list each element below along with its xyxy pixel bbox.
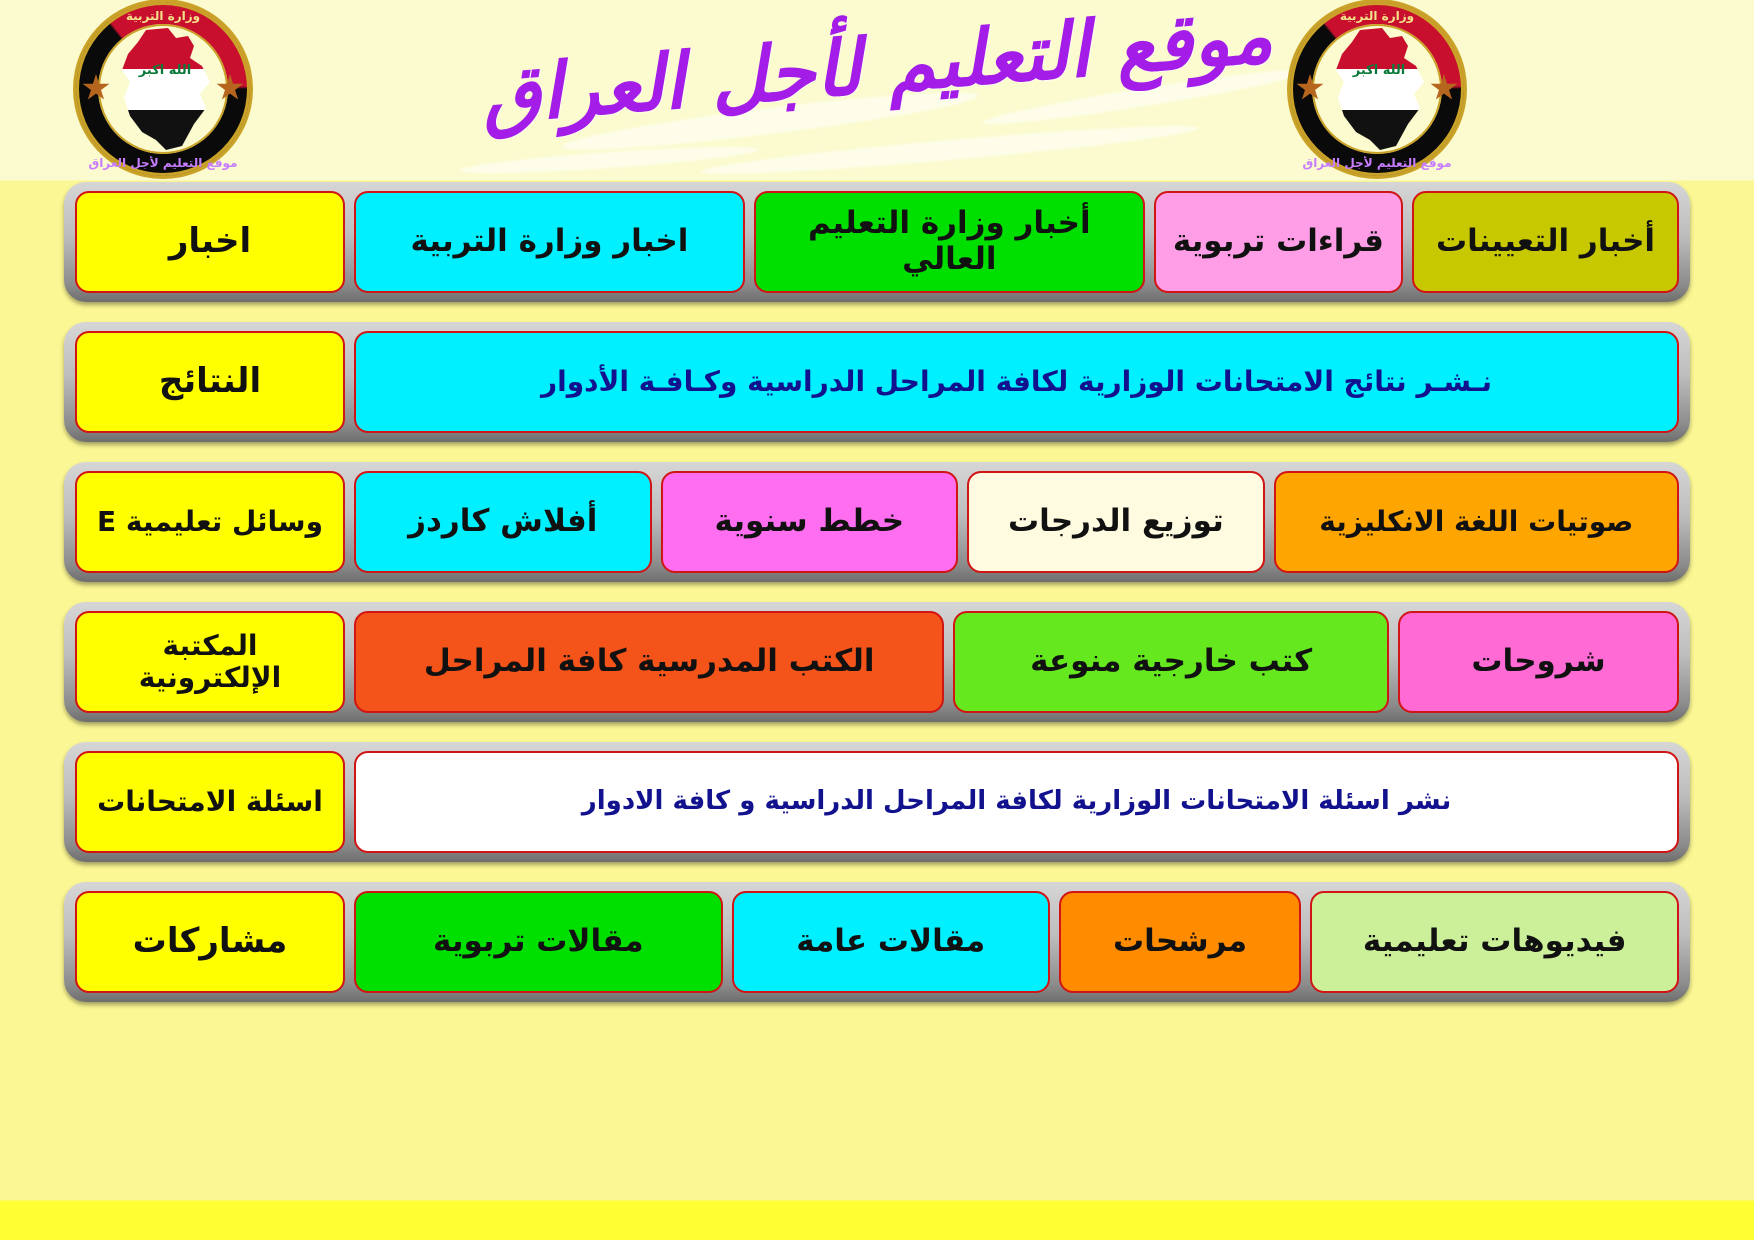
nav-button[interactable]: قراءات تربوية (1154, 191, 1403, 293)
nav-button[interactable]: أفلاش كاردز (354, 471, 652, 573)
nav-row-results: النتائجنـشـر نتائج الامتحانات الوزارية ل… (64, 322, 1690, 442)
nav-button[interactable]: مقالات تربوية (354, 891, 723, 993)
nav-button[interactable]: صوتيات اللغة الانكليزية (1274, 471, 1679, 573)
nav-button[interactable]: كتب خارجية منوعة (953, 611, 1389, 713)
nav-button[interactable]: نـشـر نتائج الامتحانات الوزارية لكافة ال… (354, 331, 1679, 433)
logo-flag-text: الله اكبر (134, 64, 196, 78)
nav-button[interactable]: توزيع الدرجات (967, 471, 1265, 573)
nav-button[interactable]: شروحات (1398, 611, 1679, 713)
nav-row-e-learning-resources: وسائل تعليمية Eأفلاش كاردزخطط سنويةتوزيع… (64, 462, 1690, 582)
logo-arc-top-text: وزارة التربية (1290, 9, 1464, 23)
page-header: الله اكبر وزارة التربية موقع التعليم لأج… (0, 0, 1754, 182)
navigation-rows: اخباراخبار وزارة التربيةأخبار وزارة التع… (0, 182, 1754, 1022)
logo-arc-bottom-text: موقع التعليم لأجل العراق (1290, 156, 1464, 170)
nav-button[interactable]: الكتب المدرسية كافة المراحل (354, 611, 944, 713)
category-chip-news[interactable]: اخبار (75, 191, 345, 293)
nav-row-exam-questions: اسئلة الامتحاناتنشر اسئلة الامتحانات الو… (64, 742, 1690, 862)
category-chip-e-learning-resources[interactable]: وسائل تعليمية E (75, 471, 345, 573)
nav-button[interactable]: خطط سنوية (661, 471, 959, 573)
nav-button[interactable]: مقالات عامة (732, 891, 1050, 993)
iraq-map-icon (116, 28, 212, 152)
nav-button[interactable]: أخبار التعيينات (1412, 191, 1679, 293)
logo-flag-text: الله اكبر (1348, 64, 1410, 78)
nav-button[interactable]: فيديوهات تعليمية (1310, 891, 1679, 993)
nav-button[interactable]: مرشحات (1059, 891, 1301, 993)
nav-button[interactable]: أخبار وزارة التعليم العالي (754, 191, 1145, 293)
nav-row-news: اخباراخبار وزارة التربيةأخبار وزارة التع… (64, 182, 1690, 302)
nav-button[interactable]: اخبار وزارة التربية (354, 191, 745, 293)
nav-row-electronic-library: المكتبة الإلكترونيةالكتب المدرسية كافة ا… (64, 602, 1690, 722)
iraq-map-icon (1330, 28, 1426, 152)
logo-arc-bottom-text: موقع التعليم لأجل العراق (76, 156, 250, 170)
category-chip-electronic-library[interactable]: المكتبة الإلكترونية (75, 611, 345, 713)
category-chip-results[interactable]: النتائج (75, 331, 345, 433)
category-chip-participations[interactable]: مشاركات (75, 891, 345, 993)
iraq-emblem-logo-right: الله اكبر وزارة التربية موقع التعليم لأج… (1290, 2, 1464, 176)
logo-arc-top-text: وزارة التربية (76, 9, 250, 23)
nav-button[interactable]: نشر اسئلة الامتحانات الوزارية لكافة المر… (354, 751, 1679, 853)
category-chip-exam-questions[interactable]: اسئلة الامتحانات (75, 751, 345, 853)
page-title: موقع التعليم لأجل العراق (0, 0, 1754, 182)
nav-row-participations: مشاركاتمقالات تربويةمقالات عامةمرشحاتفيد… (64, 882, 1690, 1002)
